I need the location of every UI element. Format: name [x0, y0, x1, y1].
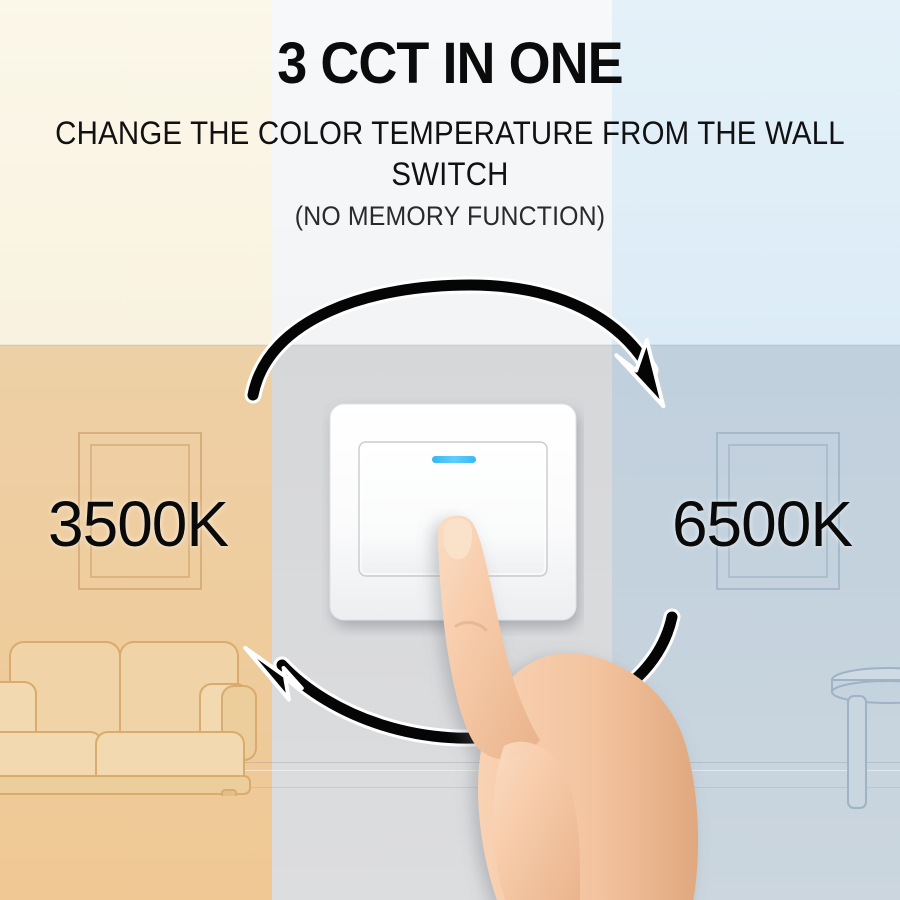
side-table-illustration [826, 664, 900, 834]
page-title: 3 CCT IN ONE [32, 34, 869, 95]
header-block: 3 CCT IN ONE CHANGE THE COLOR TEMPERATUR… [0, 34, 900, 232]
page-subtitle: CHANGE THE COLOR TEMPERATURE FROM THE WA… [36, 113, 864, 195]
fingernail [444, 518, 472, 559]
page-subnote: (NO MEMORY FUNCTION) [36, 201, 864, 232]
hand-pressing-switch [404, 508, 734, 900]
hand-shape [438, 516, 698, 900]
label-6500k: 6500K [672, 487, 852, 561]
sofa-illustration [0, 636, 286, 796]
led-indicator-glow [432, 456, 476, 463]
infographic-canvas: 3500K 6500K 3 CCT IN ONE CHANGE THE COLO… [0, 0, 900, 900]
band-warm-room [0, 345, 272, 900]
wall-horizon-line [0, 344, 900, 346]
label-3500k: 3500K [48, 487, 228, 561]
